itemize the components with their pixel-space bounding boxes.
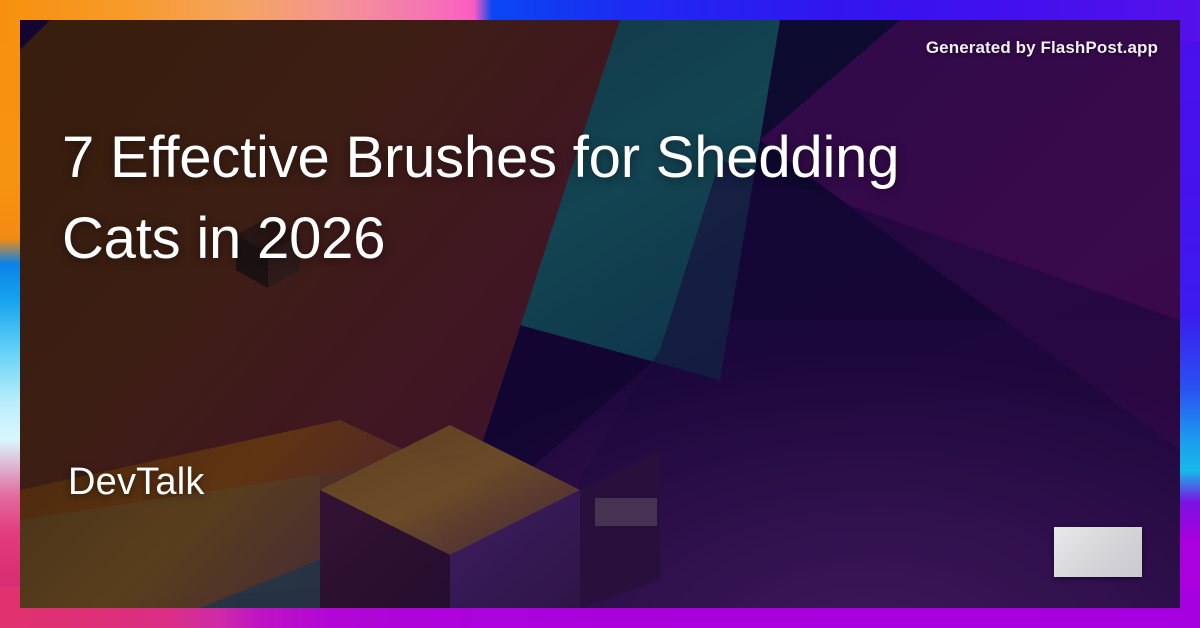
page-title: 7 Effective Brushes for Shedding Cats in… [62,117,922,279]
card-content: Generated by FlashPost.app 7 Effective B… [20,20,1180,608]
brand-name: DevTalk [68,461,205,504]
social-card: Generated by FlashPost.app 7 Effective B… [0,0,1200,628]
flashpost-logo-mark: FLASH POST ® [1054,527,1142,577]
generated-by-watermark: Generated by FlashPost.app [926,38,1158,58]
artwork-canvas: Generated by FlashPost.app 7 Effective B… [20,20,1180,608]
flashpost-logo[interactable]: FLASH POST ® [1054,527,1142,577]
